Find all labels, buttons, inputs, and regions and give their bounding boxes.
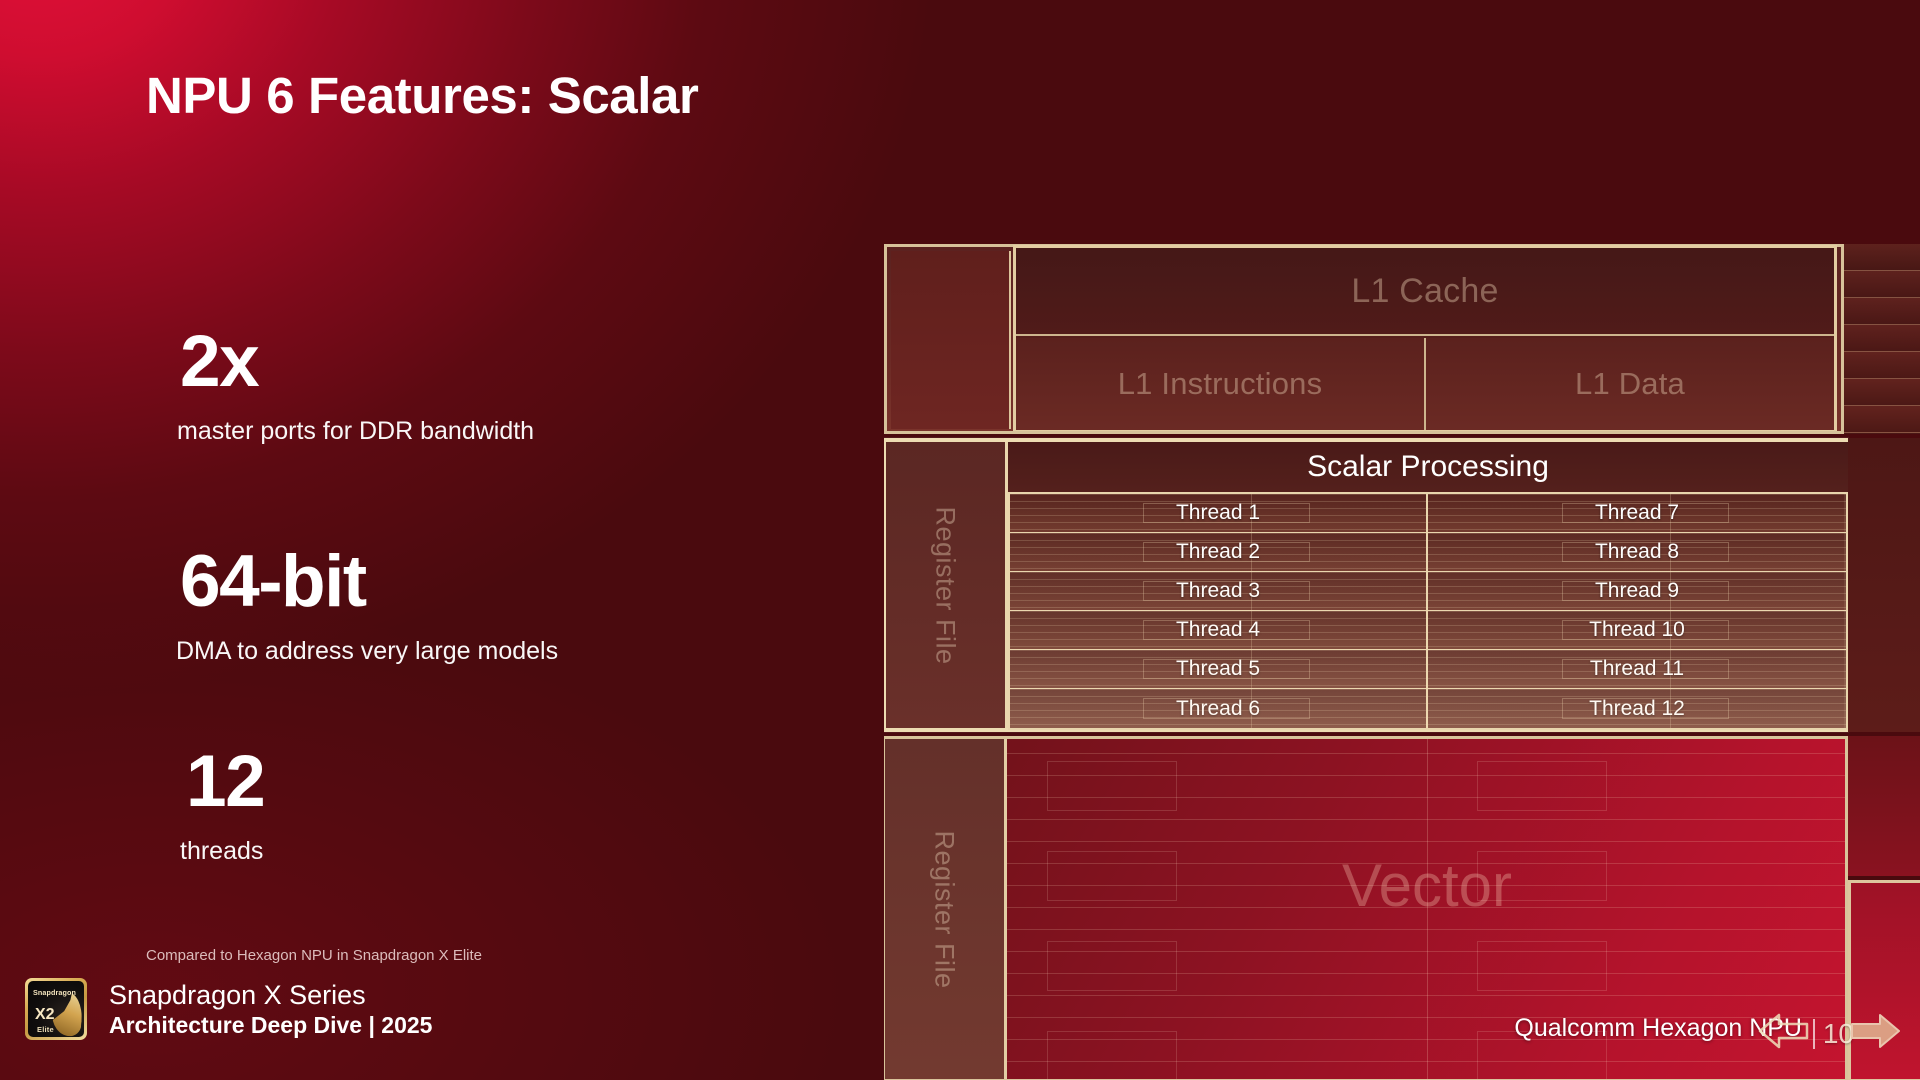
register-file-label: Register File (930, 506, 961, 664)
vector-subblock (1047, 1031, 1177, 1079)
thread-label: Thread 12 (1589, 697, 1685, 721)
snapdragon-x2-elite-logo: Snapdragon X2 Elite (25, 978, 87, 1040)
thread-label: Thread 10 (1589, 618, 1685, 642)
footer-series-name: Snapdragon X Series (109, 979, 432, 1012)
thread-cell: Thread 2 (1010, 533, 1428, 572)
l1-cache-cluster: L1 Cache L1 Instructions L1 Data (1013, 245, 1837, 431)
register-file-vector: Register File (885, 739, 1007, 1079)
thread-label: Thread 8 (1595, 540, 1679, 564)
npu-block-diagram: L1 Cache L1 Instructions L1 Data Registe… (884, 244, 1920, 1080)
vector-subblock (1477, 941, 1607, 991)
slide-canvas: NPU 6 Features: Scalar 2x master ports f… (0, 0, 1920, 1080)
stat-block-ddr-ports: 2x master ports for DDR bandwidth (180, 325, 534, 446)
scalar-right-edge-strip (1848, 438, 1920, 732)
footer-branding: Snapdragon X2 Elite Snapdragon X Series … (25, 978, 432, 1040)
thread-cell: Thread 10 (1428, 611, 1846, 650)
previous-slide-arrow-icon[interactable] (1757, 1011, 1809, 1056)
thread-cell: Thread 7 (1428, 494, 1846, 533)
stat-value: 2x (180, 325, 534, 398)
thread-cell: Thread 3 (1010, 572, 1428, 611)
thread-cell: Thread 11 (1428, 650, 1846, 689)
thread-cell: Thread 8 (1428, 533, 1846, 572)
stat-caption: master ports for DDR bandwidth (177, 416, 534, 446)
l1-data-label: L1 Data (1575, 366, 1685, 402)
thread-cell: Thread 6 (1010, 689, 1428, 728)
page-title: NPU 6 Features: Scalar (146, 66, 698, 125)
thread-label: Thread 5 (1176, 657, 1260, 681)
stat-block-threads: 12 threads (180, 745, 264, 866)
thread-label: Thread 4 (1176, 618, 1260, 642)
thread-cell: Thread 4 (1010, 611, 1428, 650)
stat-caption: threads (180, 836, 264, 866)
vector-subblock (1477, 851, 1607, 901)
stat-value: 12 (186, 745, 264, 818)
vector-center-divider (1427, 739, 1428, 1079)
register-file-label: Register File (929, 830, 960, 988)
footer-text: Snapdragon X Series Architecture Deep Di… (109, 979, 432, 1040)
thread-label: Thread 3 (1176, 579, 1260, 603)
thread-cell: Thread 1 (1010, 494, 1428, 533)
thread-grid: Thread 1Thread 7Thread 2Thread 8Thread 3… (1008, 492, 1848, 730)
register-file-top-column (891, 251, 1011, 429)
register-file-scalar: Register File (886, 442, 1008, 728)
thread-cell: Thread 12 (1428, 689, 1846, 728)
stat-value: 64-bit (180, 545, 558, 618)
thread-cell: Thread 5 (1010, 650, 1428, 689)
scalar-processing-title: Scalar Processing (1008, 442, 1848, 492)
l1-cache-block: L1 Cache (1016, 248, 1834, 336)
thread-label: Thread 1 (1176, 501, 1260, 525)
stat-caption: DMA to address very large models (176, 636, 558, 666)
l1-subblocks: L1 Instructions L1 Data (1016, 338, 1834, 430)
thread-cell: Thread 9 (1428, 572, 1846, 611)
nav-separator (1813, 1019, 1815, 1049)
l1-cache-label: L1 Cache (1351, 272, 1498, 311)
vector-subblock (1047, 851, 1177, 901)
snapdragon-swoosh-icon (51, 991, 84, 1037)
thread-label: Thread 11 (1590, 657, 1684, 681)
scalar-processing-panel: Register File Scalar Processing Thread 1… (884, 438, 1848, 732)
thread-label: Thread 2 (1176, 540, 1260, 564)
thread-label: Thread 9 (1595, 579, 1679, 603)
logo-tier: Elite (37, 1025, 54, 1034)
vector-subblock (1047, 941, 1177, 991)
next-slide-arrow-icon[interactable] (1850, 1011, 1902, 1056)
cache-frame: L1 Cache L1 Instructions L1 Data (884, 244, 1844, 434)
vector-subblock (1477, 761, 1607, 811)
footer-deck-name: Architecture Deep Dive | 2025 (109, 1011, 432, 1039)
vector-right-edge-strip (1848, 736, 1920, 876)
logo-model: X2 (35, 1007, 55, 1023)
l1-instructions-label: L1 Instructions (1118, 366, 1323, 402)
cache-right-edge-strip (1844, 244, 1920, 434)
footnote: Compared to Hexagon NPU in Snapdragon X … (146, 947, 482, 964)
thread-label: Thread 6 (1176, 697, 1260, 721)
thread-label: Thread 7 (1595, 501, 1679, 525)
l1-instructions-block: L1 Instructions (1016, 338, 1426, 430)
vector-subblock (1047, 761, 1177, 811)
slide-navigation[interactable]: 10 (1757, 1011, 1902, 1056)
stat-block-dma: 64-bit DMA to address very large models (180, 545, 558, 666)
l1-data-block: L1 Data (1426, 338, 1834, 430)
logo-wordmark: Snapdragon (33, 988, 76, 997)
